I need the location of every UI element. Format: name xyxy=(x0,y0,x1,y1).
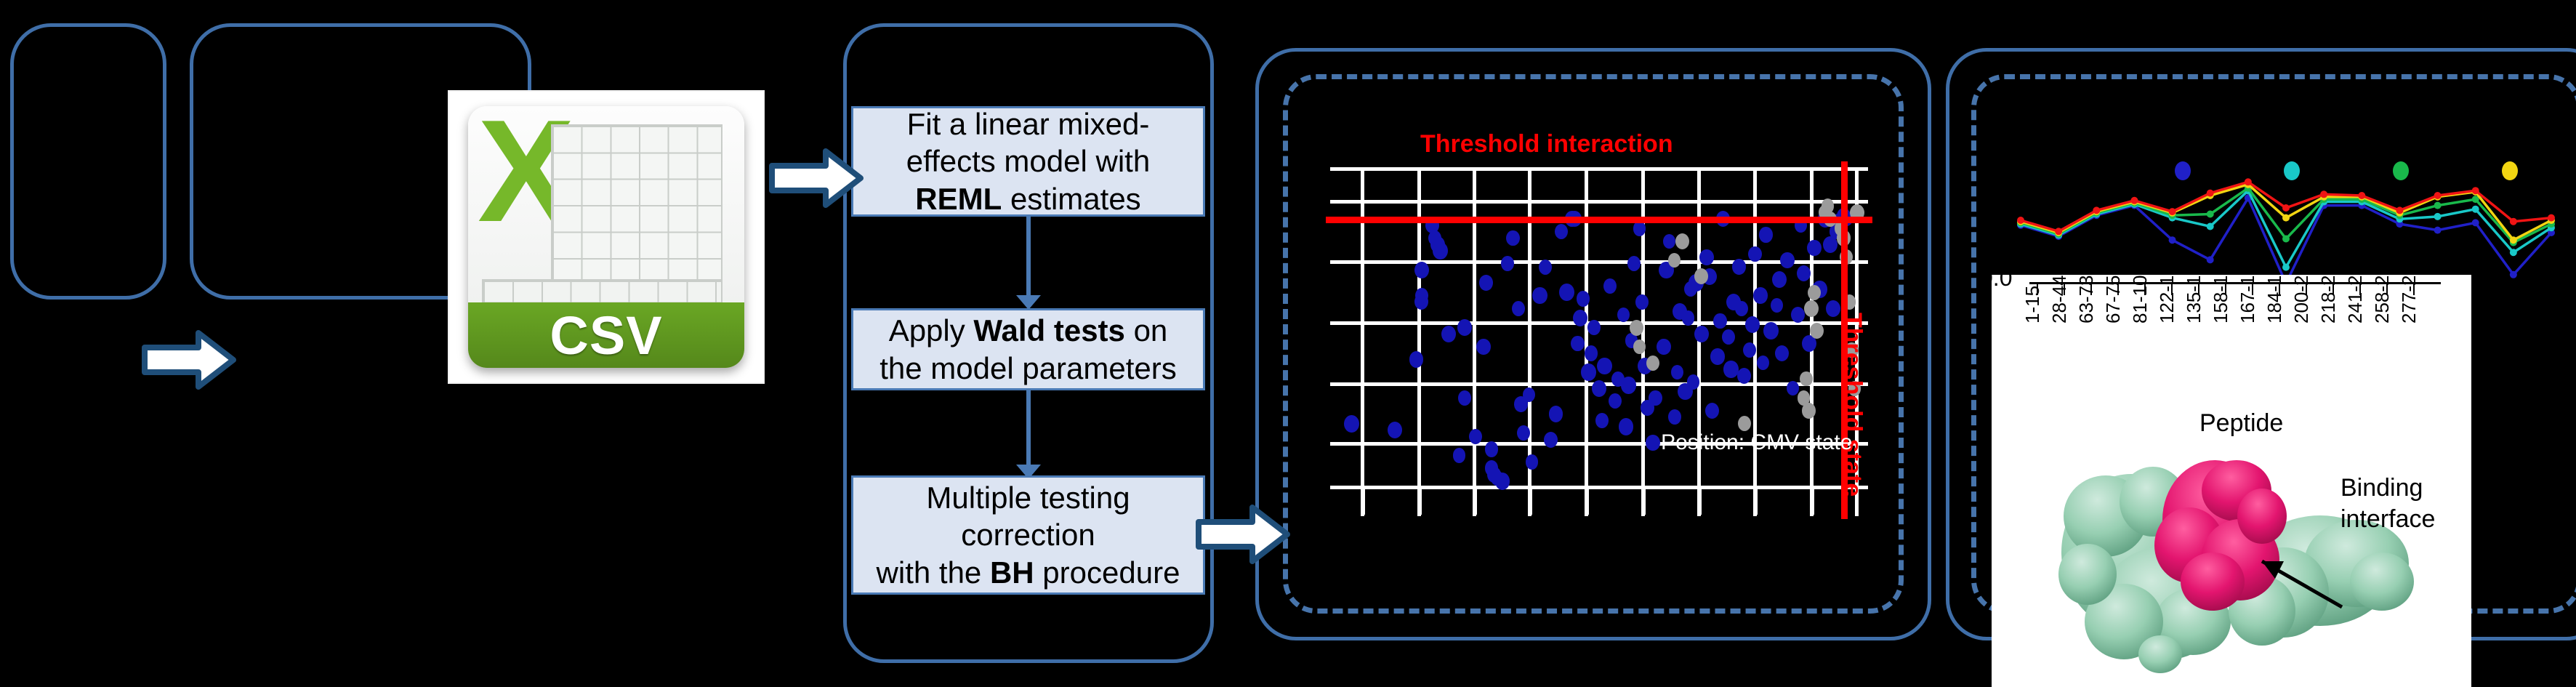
scatter-point xyxy=(1802,403,1816,419)
step-model-line2: effects model with xyxy=(906,144,1150,178)
scatter-point xyxy=(1559,284,1574,301)
binding-interface-line1: Binding xyxy=(2340,473,2435,504)
scatter-point xyxy=(1675,233,1689,249)
peptide-series-marker xyxy=(2207,211,2214,218)
scatter-point xyxy=(1791,307,1805,323)
scatter-point xyxy=(1592,380,1607,398)
scatter-point xyxy=(1453,448,1466,463)
step-wald-text: Apply Wald tests on the model parameters xyxy=(880,312,1177,386)
scatter-point xyxy=(1539,260,1552,275)
scatter-point xyxy=(1619,418,1634,435)
scatter-point xyxy=(1738,416,1751,431)
peptide-tick-label: 258-266 xyxy=(2371,275,2394,324)
scatter-point xyxy=(1671,365,1683,379)
scatter-point xyxy=(1627,256,1641,271)
scatter-point xyxy=(1668,253,1681,268)
peptide-series-line xyxy=(2021,190,2551,267)
threshold-interaction-label: Threshold interaction xyxy=(1420,130,1673,158)
step-model-text: Fit a linear mixed- effects model with R… xyxy=(906,105,1150,217)
input-panel[interactable] xyxy=(10,23,166,300)
peptide-tick-label: 67-75 xyxy=(2102,276,2125,324)
peptide-tick-label: 122-129 xyxy=(2156,275,2178,324)
peptide-tick-label: 167-180 xyxy=(2237,275,2259,324)
peptide-tick-label: 1-15 xyxy=(2021,286,2044,324)
peptide-tick-label: 135-144 xyxy=(2183,275,2205,324)
structure-figure-inset[interactable]: 0.0 1-1528-4463-7367-7581-101122-129135-… xyxy=(1992,275,2471,687)
scatter-point xyxy=(1409,351,1423,367)
peptide-tick-label: 277-284 xyxy=(2398,275,2420,324)
scatter-point xyxy=(1797,265,1811,281)
scatter-point xyxy=(1523,387,1535,402)
step-wald-bold: Wald tests xyxy=(973,313,1124,347)
step-model-box[interactable]: Fit a linear mixed- effects model with R… xyxy=(851,106,1205,217)
step-correction-line1: Multiple testing xyxy=(926,481,1130,515)
scatter-point xyxy=(1617,308,1630,322)
axis-tick xyxy=(1362,486,1365,515)
peptide-series-marker xyxy=(2320,190,2327,198)
peptide-tick-label: 63-73 xyxy=(2075,276,2098,324)
peptide-tick-label: 218-237 xyxy=(2317,275,2340,324)
scatter-point xyxy=(1772,271,1787,288)
csv-file-icon[interactable]: X CSV xyxy=(449,92,763,382)
scatter-point xyxy=(1735,301,1748,316)
scatter-point xyxy=(1495,473,1510,490)
scatter-point xyxy=(1699,249,1714,266)
scatter-point xyxy=(1710,348,1724,364)
scatter-point xyxy=(1753,287,1768,304)
peptide-series-marker xyxy=(2434,213,2442,220)
peptide-series-marker xyxy=(2396,206,2403,214)
scatter-point xyxy=(1663,234,1675,249)
peptide-tick-label: 158-166 xyxy=(2210,275,2232,324)
step-wald-box[interactable]: Apply Wald tests on the model parameters xyxy=(851,308,1205,390)
step-model-line3rest: estimates xyxy=(1002,182,1140,216)
peptide-series-marker xyxy=(2548,214,2555,222)
scatter-point xyxy=(1581,363,1596,381)
peptide-series-marker xyxy=(2358,192,2365,199)
axis-tick xyxy=(1699,486,1702,515)
peptide-series-marker xyxy=(2282,264,2290,271)
scatter-point xyxy=(1763,322,1779,340)
scatter-point xyxy=(1595,413,1609,428)
connector-model-to-wald-head xyxy=(1016,295,1041,310)
scatter-point xyxy=(1757,355,1769,370)
peptide-series-marker xyxy=(2472,219,2479,226)
scatter-point xyxy=(1630,320,1643,336)
scatter-point xyxy=(1479,275,1493,291)
scatter-point xyxy=(1800,371,1812,386)
threshold-interaction-line xyxy=(1326,217,1872,223)
step-model-reml: REML xyxy=(915,182,1002,216)
peptide-series-marker xyxy=(2282,204,2290,212)
scatter-point xyxy=(1732,259,1746,275)
peptide-series-marker xyxy=(2169,208,2176,215)
scatter-point xyxy=(1737,368,1751,384)
peptide-series-marker xyxy=(2207,190,2214,197)
connector-wald-to-correction xyxy=(1026,390,1031,465)
step-correction-box[interactable]: Multiple testing correction with the BH … xyxy=(851,475,1205,595)
arrow-3 xyxy=(1196,502,1290,567)
y-axis-tick-label: 0.0 xyxy=(1992,275,2012,292)
peptide-tick-label: 184-199 xyxy=(2263,275,2286,324)
scatter-point xyxy=(1745,316,1760,334)
scatter-point xyxy=(1458,390,1472,406)
peptide-series-marker xyxy=(2055,228,2062,235)
peptide-series-marker xyxy=(2093,206,2100,214)
scatter-point xyxy=(1549,406,1563,422)
peptide-series-marker xyxy=(2282,236,2290,243)
scatter-point xyxy=(1344,415,1359,433)
peptide-tick-label: 200-214 xyxy=(2290,275,2313,324)
axis-tick xyxy=(1474,486,1477,515)
scatter-point xyxy=(1532,287,1547,304)
scatter-point xyxy=(1441,326,1457,343)
peptide-series-marker xyxy=(2207,223,2214,230)
scatter-point xyxy=(1587,320,1601,335)
scatter-point xyxy=(1457,319,1472,336)
scatter-point xyxy=(1577,291,1590,307)
threshold-state-label: Threshold state xyxy=(1838,313,1867,497)
csv-spreadsheet-grid-upper xyxy=(551,124,723,286)
scatter-point xyxy=(1646,355,1659,371)
scatter-point xyxy=(1705,403,1719,419)
scatter-point xyxy=(1635,294,1649,310)
scatter-point xyxy=(1555,224,1568,239)
scatter-point xyxy=(1433,242,1448,260)
scatter-point xyxy=(1780,252,1794,268)
gridline-h xyxy=(1330,486,1868,489)
scatter-point xyxy=(1759,227,1772,242)
scatter-point xyxy=(1771,298,1783,313)
scatter-point xyxy=(1476,339,1490,355)
scatter-point xyxy=(1687,374,1699,389)
csv-card: X CSV xyxy=(468,106,744,368)
step-correction-post: procedure xyxy=(1034,555,1180,590)
scatter-point xyxy=(1657,339,1671,355)
scatter-point xyxy=(1603,278,1617,294)
peptide-series-marker xyxy=(2510,218,2517,225)
scatter-point xyxy=(1804,300,1819,317)
binding-interface-line2: interface xyxy=(2340,504,2435,535)
step-correction-bh: BH xyxy=(990,555,1034,590)
legend-dot xyxy=(2175,161,2191,180)
scatter-point xyxy=(1597,358,1612,375)
gridline-h xyxy=(1330,167,1868,171)
scatter-point xyxy=(1713,313,1726,329)
scatter-point xyxy=(1571,336,1584,351)
peptide-series-marker xyxy=(2510,271,2517,278)
scatter-point xyxy=(1501,256,1514,271)
legend-dot xyxy=(2284,161,2300,180)
axis-tick xyxy=(1586,486,1589,515)
flow-diagram-root: X CSV Fit a linear mixed- effects model … xyxy=(0,0,2576,687)
gridline-h xyxy=(1330,200,1868,204)
peptide-series-marker xyxy=(2130,197,2138,204)
axis-tick xyxy=(1529,486,1532,515)
scatter-point xyxy=(1646,435,1659,451)
axis-tick xyxy=(1811,486,1814,515)
peptide-series-marker xyxy=(2434,227,2442,234)
step-wald-pre: Apply xyxy=(889,313,974,347)
peptide-series-marker xyxy=(2434,202,2442,209)
step-correction-line2: correction xyxy=(961,518,1095,552)
scatter-point xyxy=(1469,429,1482,444)
scatter-point xyxy=(1512,301,1525,316)
scatter-point xyxy=(1723,361,1738,377)
scatter-point xyxy=(1682,310,1694,325)
scatter-point xyxy=(1787,381,1799,395)
scatter-point xyxy=(1414,262,1429,278)
scatter-point xyxy=(1775,345,1789,361)
peptide-tick-label: 28-44 xyxy=(2048,276,2071,324)
scatter-point xyxy=(1506,230,1519,246)
step-wald-line2: the model parameters xyxy=(880,351,1177,385)
legend-dot xyxy=(2502,161,2518,180)
peptide-axis-title: Peptide xyxy=(2199,409,2283,438)
step-model-line1: Fit a linear mixed- xyxy=(907,107,1150,141)
scatter-point xyxy=(1810,323,1824,340)
step-wald-post: on xyxy=(1125,313,1167,347)
csv-extension-label: CSV xyxy=(550,305,662,366)
peptide-series-marker xyxy=(2510,236,2517,244)
scatter-point xyxy=(1388,422,1402,438)
peptide-series-marker xyxy=(2472,206,2479,213)
peptide-tick-label: 241-257 xyxy=(2344,275,2367,324)
scatter-point xyxy=(1544,432,1558,448)
scatter-point xyxy=(1649,390,1662,406)
connector-model-to-wald xyxy=(1026,217,1031,295)
arrow-1 xyxy=(142,327,236,393)
scatter-point xyxy=(1609,393,1622,409)
scatter-point xyxy=(1573,310,1587,326)
peptide-tick-label: 81-101 xyxy=(2129,275,2152,324)
scatter-point xyxy=(1808,285,1821,300)
scatter-point xyxy=(1722,329,1735,345)
scatter-point xyxy=(1415,288,1428,303)
peptide-series-marker xyxy=(2472,187,2479,194)
peptide-chart-legend xyxy=(2008,161,2575,188)
peptide-series-marker xyxy=(2510,249,2517,256)
peptide-series-marker xyxy=(2282,214,2290,222)
scatter-point xyxy=(1621,377,1635,393)
scatter-point xyxy=(1807,240,1821,256)
legend-dot xyxy=(2393,161,2409,180)
peptide-series-marker xyxy=(2434,192,2442,199)
scatter-plot[interactable] xyxy=(1330,167,1868,516)
csv-extension-band: CSV xyxy=(468,302,744,368)
step-correction-text: Multiple testing correction with the BH … xyxy=(877,479,1180,591)
axis-tick xyxy=(1643,486,1646,515)
scatter-point xyxy=(1526,454,1538,469)
peptide-series-marker xyxy=(2017,217,2024,224)
peptide-series-marker xyxy=(2207,256,2214,263)
peptide-series-marker xyxy=(2169,236,2176,244)
arrow-2 xyxy=(769,145,864,211)
axis-tick xyxy=(1419,486,1422,515)
axis-tick xyxy=(1755,486,1758,515)
binding-interface-annotation: Binding interface xyxy=(2340,473,2435,534)
scatter-point xyxy=(1485,441,1499,457)
scatter-point xyxy=(1585,345,1598,361)
scatter-xlabel: Position: CMV state xyxy=(1661,430,1852,455)
step-correction-pre: with the xyxy=(877,555,990,590)
scatter-point xyxy=(1694,326,1709,342)
scatter-point xyxy=(1668,409,1681,425)
